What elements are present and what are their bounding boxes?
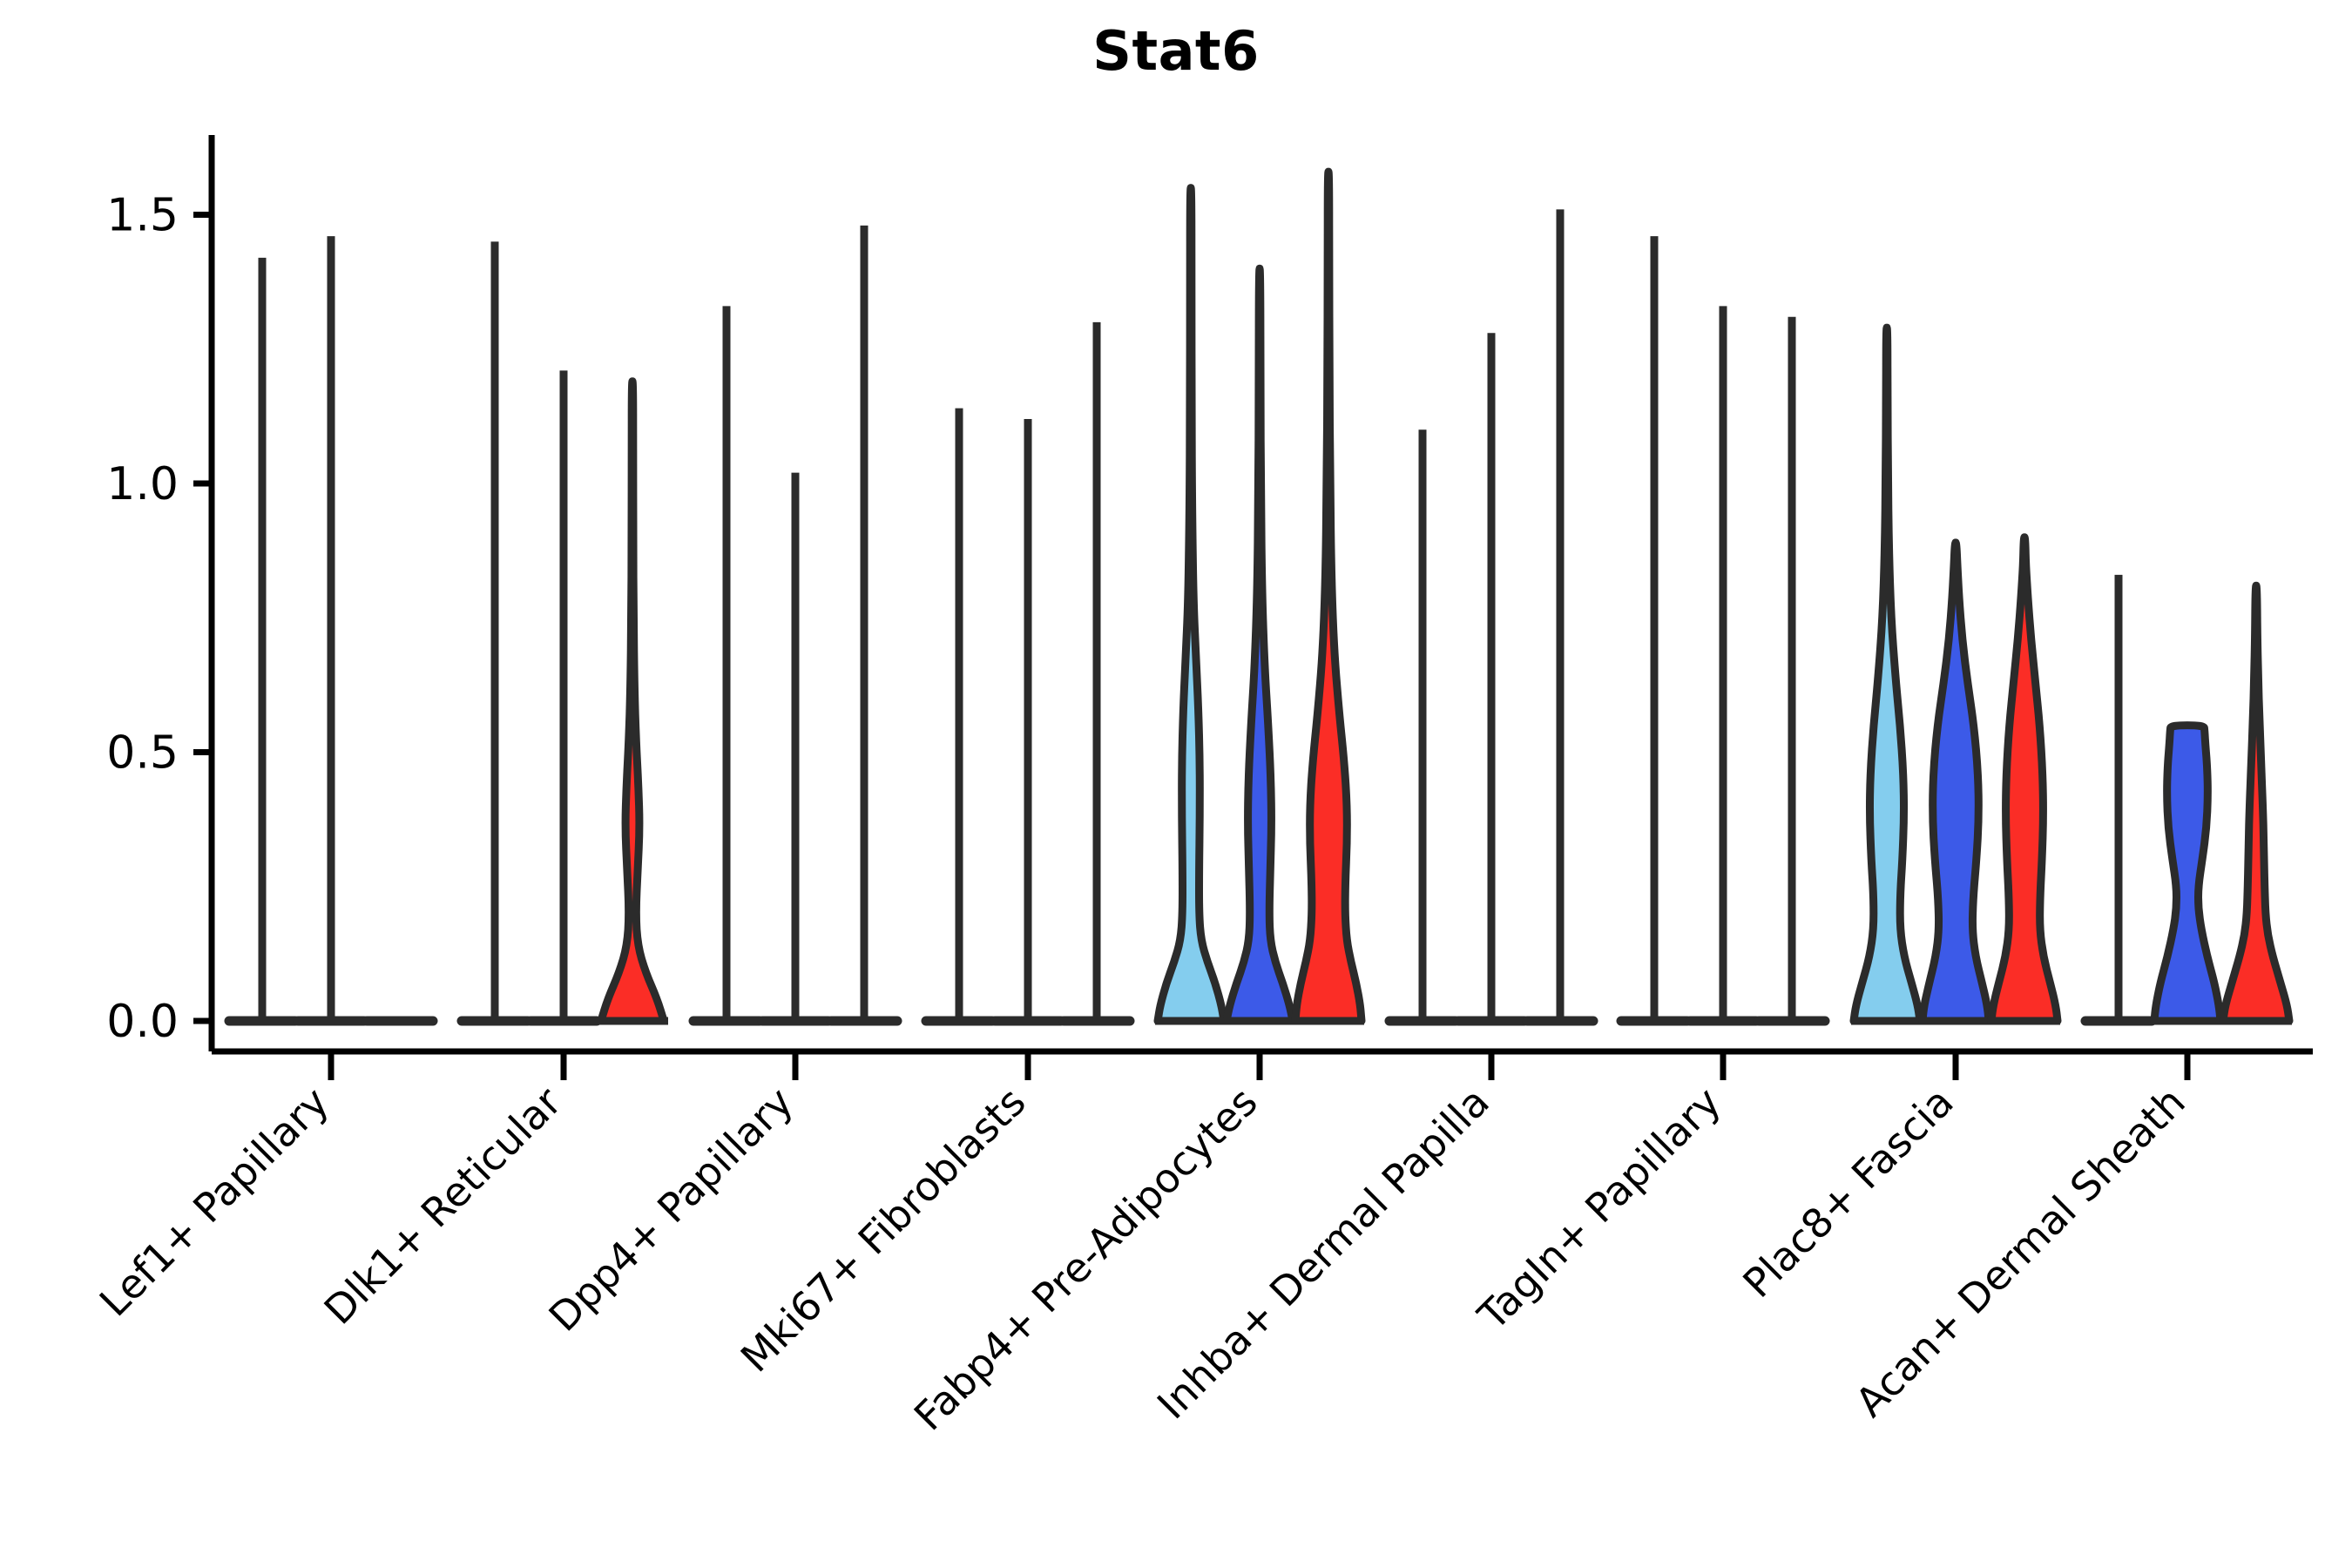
x-tick-label: Dlk1+ Reticular	[315, 1078, 571, 1334]
x-tick-label: Lef1+ Papillary	[91, 1078, 338, 1326]
x-tick-label: TagIn+ Papillary	[1469, 1078, 1730, 1340]
plot-canvas: 0.00.51.01.5 Lef1+ PapillaryDlk1+ Reticu…	[0, 0, 2352, 1568]
violin-body	[1158, 188, 1224, 1021]
violin[interactable]	[1458, 333, 1524, 1021]
violin[interactable]	[762, 473, 828, 1021]
violin[interactable]	[1989, 537, 2060, 1021]
violin-body	[1923, 543, 1989, 1021]
violin[interactable]	[926, 409, 992, 1021]
y-axis-ticks: 0.00.51.01.5	[106, 190, 212, 1049]
violin-series-layer	[229, 172, 2292, 1021]
x-axis-tick-labels: Lef1+ PapillaryDlk1+ ReticularDpp4+ Papi…	[91, 1078, 2194, 1440]
violin[interactable]	[1920, 543, 1991, 1021]
violin-group	[462, 241, 668, 1021]
violin[interactable]	[462, 241, 528, 1021]
violin[interactable]	[2152, 726, 2223, 1021]
violin[interactable]	[2085, 575, 2152, 1021]
violin[interactable]	[831, 226, 897, 1021]
violin[interactable]	[1851, 328, 1923, 1021]
violin-body	[1854, 328, 1920, 1021]
violin[interactable]	[597, 382, 668, 1021]
violin[interactable]	[1690, 306, 1756, 1021]
violin-group	[1851, 328, 2060, 1021]
violin-body	[601, 382, 664, 1021]
violin-body	[2154, 726, 2220, 1021]
violin[interactable]	[693, 306, 760, 1021]
violin-group	[926, 322, 1130, 1021]
violin[interactable]	[1389, 429, 1456, 1021]
violin-group	[2085, 575, 2292, 1021]
x-axis-ticks	[331, 1051, 2187, 1080]
y-tick-label: 0.5	[106, 727, 179, 780]
y-tick-label: 0.0	[106, 996, 179, 1048]
violin[interactable]	[1155, 188, 1227, 1021]
violin-group	[693, 226, 897, 1021]
violin-group	[229, 236, 433, 1021]
violin-body	[1295, 172, 1362, 1021]
violin-group	[1621, 236, 1825, 1021]
violin[interactable]	[1224, 268, 1295, 1021]
violin[interactable]	[1621, 236, 1687, 1021]
y-tick-label: 1.5	[106, 190, 179, 242]
x-tick-label: Plac8+ Fascia	[1734, 1078, 1962, 1307]
violin[interactable]	[2220, 585, 2292, 1021]
violin[interactable]	[1064, 322, 1130, 1021]
violin[interactable]	[1293, 172, 1364, 1021]
violin[interactable]	[229, 258, 295, 1021]
x-tick-label: Dpp4+ Papillary	[540, 1078, 802, 1341]
violin-group	[1155, 172, 1364, 1021]
violin-group	[1389, 209, 1593, 1021]
violin[interactable]	[995, 419, 1061, 1021]
y-tick-label: 1.0	[106, 458, 179, 510]
violin[interactable]	[298, 236, 364, 1021]
violin[interactable]	[1527, 209, 1593, 1021]
violin-body	[1991, 537, 2058, 1021]
violin-body	[2223, 585, 2289, 1021]
violin[interactable]	[1759, 317, 1825, 1021]
violin-plot-figure: Stat6 Expression Level 0.00.51.01.5 Lef1…	[0, 0, 2352, 1568]
violin-body	[1227, 268, 1293, 1021]
violin[interactable]	[531, 370, 597, 1021]
